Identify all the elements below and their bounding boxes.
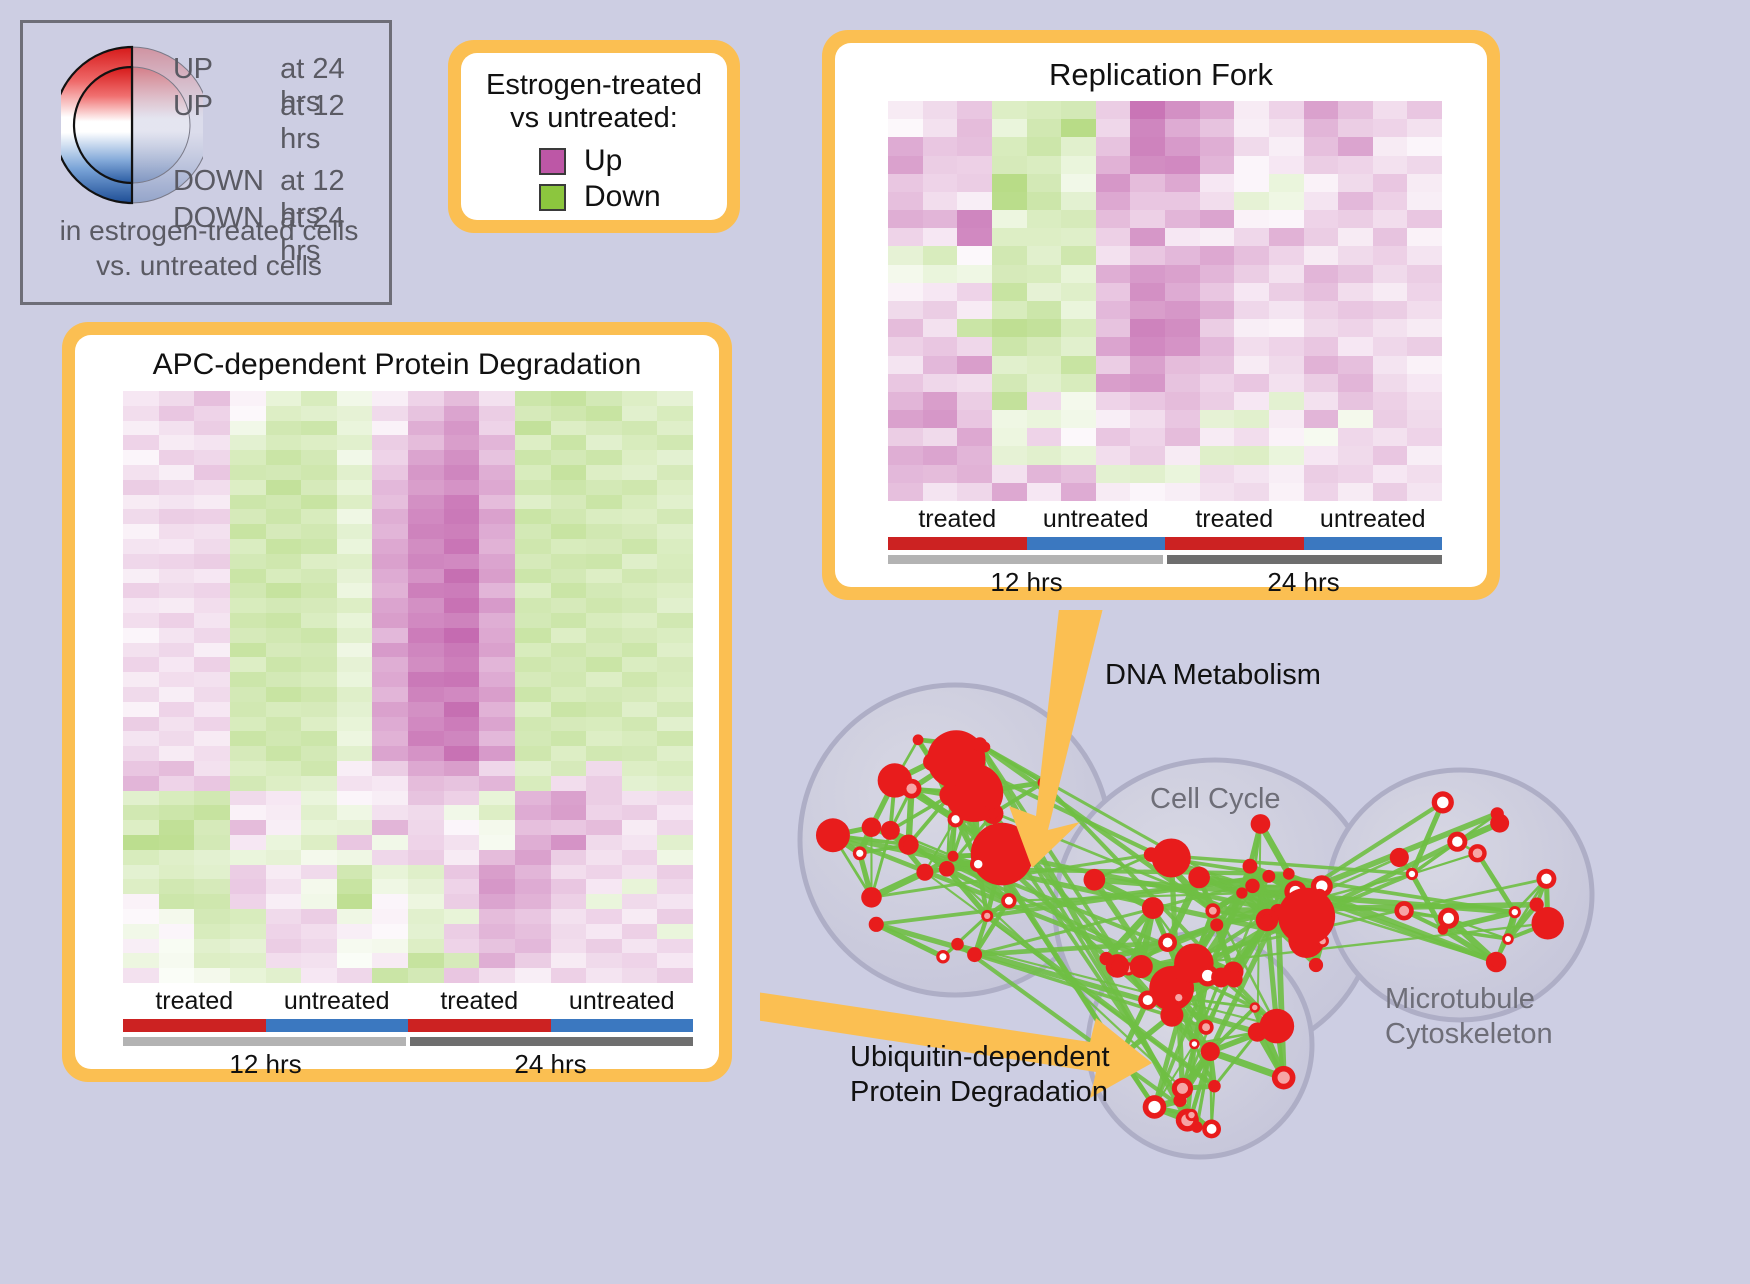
heatmap-cell [266, 820, 302, 835]
heatmap-cell [301, 406, 337, 421]
heatmap-cell [1027, 283, 1062, 301]
heatmap-cell [230, 939, 266, 954]
figure-root: UP at 24 hrs UP at 12 hrs DOWN at 12 hrs… [0, 0, 1750, 1279]
network-node[interactable] [1309, 958, 1323, 972]
heatmap-cell [1061, 392, 1096, 410]
heatmap-cell [1269, 174, 1304, 192]
heatmap-cell [479, 598, 515, 613]
heatmap-cell [1096, 283, 1131, 301]
heatmap-cell [123, 554, 159, 569]
heatmap-cell [1027, 465, 1062, 483]
network-node[interactable] [1536, 869, 1556, 889]
network-node[interactable] [1191, 1121, 1203, 1133]
heatmap-cell [957, 137, 992, 155]
heatmap-cell [159, 391, 195, 406]
network-node[interactable] [916, 864, 933, 881]
heatmap-cell [1130, 265, 1165, 283]
heatmap-cell [657, 953, 693, 968]
network-node[interactable] [1152, 838, 1191, 877]
network-node[interactable] [1530, 898, 1544, 912]
heatmap-cell [515, 731, 551, 746]
heatmap-cell [1234, 228, 1269, 246]
heatmap-cell [515, 598, 551, 613]
heatmap-cell [479, 968, 515, 983]
network-node[interactable] [1250, 1002, 1260, 1012]
network-node[interactable] [981, 910, 993, 922]
heatmap-cell [515, 776, 551, 791]
heatmap-cell [657, 509, 693, 524]
network-node[interactable] [1172, 991, 1186, 1005]
heatmap-cell [230, 746, 266, 761]
network-node[interactable] [1251, 814, 1271, 834]
network-node[interactable] [1201, 1042, 1220, 1061]
heatmap-cell [957, 392, 992, 410]
heatmap-cell [1269, 101, 1304, 119]
heatmap-cell [301, 731, 337, 746]
heatmap-cell [372, 909, 408, 924]
network-node[interactable] [1432, 791, 1454, 813]
heatmap-cell [551, 524, 587, 539]
heatmap-cell [337, 509, 373, 524]
heatmap-cell [301, 953, 337, 968]
network-node[interactable] [967, 947, 982, 962]
heatmap-cell [266, 569, 302, 584]
heatmap-cell [1234, 301, 1269, 319]
heatmap-cell [159, 421, 195, 436]
heatmap-cell [1338, 301, 1373, 319]
heatmap-cell [372, 598, 408, 613]
heatmap-cell [159, 805, 195, 820]
network-node[interactable] [948, 851, 959, 862]
apc-degradation-card: APC-dependent Protein Degradation treate… [62, 322, 732, 1082]
heatmap-cell [479, 391, 515, 406]
heatmap-cell [515, 672, 551, 687]
network-node[interactable] [861, 887, 882, 908]
heatmap-cell [1165, 228, 1200, 246]
heatmap-cell [1304, 428, 1339, 446]
heatmap-cell [266, 731, 302, 746]
network-node[interactable] [853, 846, 867, 860]
heatmap-cell [586, 465, 622, 480]
heatmap-cell [194, 820, 230, 835]
heatmap-cell [1130, 301, 1165, 319]
heatmap-cell [301, 628, 337, 643]
heatmap-cell [1200, 483, 1235, 501]
heatmap-cell [1373, 246, 1408, 264]
heatmap-cell [123, 953, 159, 968]
network-node[interactable] [939, 784, 961, 806]
heatmap-cell [515, 613, 551, 628]
heatmap-cell [657, 835, 693, 850]
heatmap-cell [1130, 483, 1165, 501]
legend-inner: Estrogen-treated vs untreated: Up Down [461, 53, 727, 220]
network-node[interactable] [1283, 868, 1295, 880]
network-node[interactable] [1158, 933, 1177, 952]
heatmap-cell [888, 374, 923, 392]
heatmap-cell [479, 746, 515, 761]
heatmap-cell [266, 435, 302, 450]
network-node[interactable] [983, 803, 1004, 824]
heatmap-cell [586, 820, 622, 835]
heatmap-cell [337, 406, 373, 421]
heatmap-cell [1096, 265, 1131, 283]
heatmap-cell [622, 495, 658, 510]
heatmap-cell [372, 554, 408, 569]
network-node[interactable] [1394, 901, 1413, 920]
network-node[interactable] [1260, 1009, 1295, 1044]
heatmap-cell [622, 850, 658, 865]
heatmap-cell [1130, 246, 1165, 264]
heatmap-cell [923, 301, 958, 319]
network-node[interactable] [1211, 967, 1231, 987]
heatmap-cell [337, 820, 373, 835]
heatmap-cell [1130, 192, 1165, 210]
heatmap-cell [194, 761, 230, 776]
heatmap-cell [551, 820, 587, 835]
heatmap-cell [957, 374, 992, 392]
heatmap-cell [301, 746, 337, 761]
heatmap-cell [123, 702, 159, 717]
heatmap-cell [1338, 228, 1373, 246]
network-node[interactable] [1438, 924, 1448, 934]
heatmap-cell [479, 465, 515, 480]
network-node[interactable] [1262, 870, 1275, 883]
heatmap-cell [657, 495, 693, 510]
heatmap-cell [622, 791, 658, 806]
network-node[interactable] [1210, 918, 1223, 931]
heatmap-cell [408, 406, 444, 421]
network-node[interactable] [1020, 846, 1036, 862]
heatmap-cell [337, 480, 373, 495]
heatmap-cell [444, 598, 480, 613]
heatmap-cell [1373, 337, 1408, 355]
heatmap-cell [266, 480, 302, 495]
heatmap-cell [622, 879, 658, 894]
heatmap-cell [1304, 265, 1339, 283]
heatmap-cell [957, 428, 992, 446]
heatmap-cell [159, 968, 195, 983]
network-node[interactable] [1038, 777, 1049, 788]
heatmap-cell [1165, 374, 1200, 392]
heatmap-cell [1200, 446, 1235, 464]
heatmap-cell [408, 598, 444, 613]
heatmap-cell [301, 687, 337, 702]
heatmap-cell [992, 446, 1027, 464]
heatmap-cell [408, 894, 444, 909]
heatmap-cell [337, 613, 373, 628]
heatmap-cell [1200, 137, 1235, 155]
heatmap-cell [444, 583, 480, 598]
heatmap-cell [301, 569, 337, 584]
heatmap-cell [586, 717, 622, 732]
heatmap-cell [1165, 156, 1200, 174]
network-node[interactable] [1084, 869, 1106, 891]
heatmap-cell [372, 894, 408, 909]
network-node[interactable] [898, 834, 918, 854]
heatmap-cell [159, 894, 195, 909]
heatmap-cell [1269, 137, 1304, 155]
heatmap-cell [337, 850, 373, 865]
heatmap-cell [992, 374, 1027, 392]
network-node[interactable] [1509, 906, 1521, 918]
heatmap-cell [1407, 319, 1442, 337]
heatmap-cell [408, 672, 444, 687]
network-node[interactable] [1114, 1050, 1127, 1063]
network-node[interactable] [1245, 879, 1259, 893]
heatmap-cell [923, 246, 958, 264]
heatmap-cell [1304, 319, 1339, 337]
heatmap-cell [337, 702, 373, 717]
heatmap-cell [372, 450, 408, 465]
heatmap-cell [444, 746, 480, 761]
network-node[interactable] [1001, 893, 1016, 908]
heatmap-cell [1304, 119, 1339, 137]
heatmap-cell [408, 657, 444, 672]
network-node[interactable] [1188, 867, 1210, 889]
network-node[interactable] [862, 817, 882, 837]
heatmap-cell [1027, 101, 1062, 119]
heatmap-cell [1096, 101, 1131, 119]
network-node[interactable] [1198, 1020, 1213, 1035]
heatmap-cell [123, 657, 159, 672]
heatmap-cell [622, 613, 658, 628]
network-node[interactable] [1138, 991, 1157, 1010]
heatmap-cell [992, 319, 1027, 337]
heatmap-cell [408, 791, 444, 806]
heatmap-cell [479, 643, 515, 658]
heatmap-cell [408, 687, 444, 702]
heatmap-cell [1096, 337, 1131, 355]
heatmap-cell [479, 953, 515, 968]
heatmap-cell [1027, 356, 1062, 374]
heatmap-cell [230, 953, 266, 968]
heatmap-cell [657, 406, 693, 421]
network-node[interactable] [869, 917, 884, 932]
heatmap-cell [888, 410, 923, 428]
heatmap-cell [266, 850, 302, 865]
heatmap-cell [479, 702, 515, 717]
treatment-bar-segment [408, 1019, 551, 1032]
network-node[interactable] [1278, 888, 1335, 945]
heatmap-cell [1407, 356, 1442, 374]
group-label: treated [888, 505, 1027, 534]
heatmap-cell [586, 746, 622, 761]
heatmap-cell [1269, 446, 1304, 464]
network-node[interactable] [1130, 955, 1153, 978]
network-node[interactable] [1208, 1080, 1221, 1093]
heatmap-cell [1234, 446, 1269, 464]
heatmap-cell [515, 495, 551, 510]
legend-items: Up Down [461, 143, 727, 215]
heatmap-cell [408, 805, 444, 820]
heatmap-cell [657, 776, 693, 791]
heatmap-cell [957, 210, 992, 228]
heatmap-cell [266, 968, 302, 983]
heatmap-cell [1407, 428, 1442, 446]
heatmap-cell [1269, 337, 1304, 355]
heatmap-cell [301, 835, 337, 850]
heatmap-cell [1200, 246, 1235, 264]
network-node[interactable] [881, 821, 900, 840]
heatmap-cell [551, 598, 587, 613]
treatment-bar-segment [266, 1019, 409, 1032]
network-node[interactable] [980, 742, 991, 753]
heatmap-cell [444, 687, 480, 702]
heatmap-cell [479, 657, 515, 672]
heatmap-cell [657, 628, 693, 643]
heatmap-cell [1269, 246, 1304, 264]
heatmap-cell [372, 628, 408, 643]
heatmap-cell [444, 835, 480, 850]
heatmap-cell [1200, 410, 1235, 428]
network-node[interactable] [1531, 907, 1563, 939]
heatmap-cell [515, 865, 551, 880]
network-node[interactable] [1202, 1120, 1221, 1139]
heatmap-cell [266, 672, 302, 687]
heatmap-cell [957, 156, 992, 174]
heatmap-cell [123, 894, 159, 909]
network-node[interactable] [936, 950, 949, 963]
network-node[interactable] [1143, 1095, 1167, 1119]
heatmap-cell [123, 598, 159, 613]
heatmap-cell [1200, 101, 1235, 119]
heatmap-cell [1130, 392, 1165, 410]
heatmap-cell [123, 968, 159, 983]
network-node[interactable] [902, 779, 922, 799]
heatmap-cell [1130, 174, 1165, 192]
legend-label-up: Up [584, 144, 622, 178]
heatmap-cell [337, 643, 373, 658]
heatmap-cell [266, 687, 302, 702]
heatmap-cell [622, 717, 658, 732]
heatmap-cell [372, 583, 408, 598]
heatmap-cell [586, 805, 622, 820]
heatmap-cell [657, 598, 693, 613]
heatmap-cell [1304, 301, 1339, 319]
heatmap-cell [1407, 374, 1442, 392]
heatmap-cell [230, 583, 266, 598]
network-node[interactable] [1486, 952, 1506, 972]
heatmap-cell [230, 835, 266, 850]
network-node[interactable] [913, 734, 924, 745]
network-node[interactable] [816, 818, 850, 852]
heatmap-cell [337, 465, 373, 480]
heatmap-cell [408, 820, 444, 835]
network-node[interactable] [1205, 903, 1220, 918]
heatmap-cell [1373, 174, 1408, 192]
heatmap-cell [444, 850, 480, 865]
network-node[interactable] [1106, 954, 1130, 978]
heatmap-cell [230, 613, 266, 628]
network-node[interactable] [939, 861, 955, 877]
heatmap-cell [622, 672, 658, 687]
network-node[interactable] [948, 811, 964, 827]
heatmap-cell [1338, 483, 1373, 501]
heatmap-cell [657, 924, 693, 939]
heatmap-cell [1165, 319, 1200, 337]
heatmap-cell [337, 554, 373, 569]
heatmap-cell [266, 909, 302, 924]
cluster-label-microtubule-line2: Cytoskeleton [1385, 1017, 1553, 1052]
heatmap-cell [622, 598, 658, 613]
group-label: treated [408, 987, 551, 1016]
heatmap-cell [1061, 483, 1096, 501]
network-node[interactable] [1172, 963, 1188, 979]
heatmap-cell [230, 539, 266, 554]
network-node[interactable] [951, 938, 964, 951]
heatmap-cell [888, 465, 923, 483]
network-node[interactable] [1236, 887, 1247, 898]
network-node[interactable] [1406, 868, 1418, 880]
heatmap-cell [301, 924, 337, 939]
heatmap-cell [479, 909, 515, 924]
heatmap-cell [1269, 483, 1304, 501]
heatmap-cell [337, 524, 373, 539]
heatmap-cell [1200, 337, 1235, 355]
timepoint-bar-segment [410, 1037, 693, 1046]
heatmap-cell [123, 509, 159, 524]
network-node[interactable] [970, 856, 986, 872]
heatmap-cell [301, 509, 337, 524]
group-label: untreated [551, 987, 694, 1016]
heatmap-cell [551, 465, 587, 480]
network-node[interactable] [1142, 897, 1164, 919]
heatmap-cell [444, 909, 480, 924]
network-node[interactable] [1189, 1039, 1200, 1050]
heatmap-cell [551, 628, 587, 643]
heatmap-cell [408, 761, 444, 776]
heatmap-cell [230, 569, 266, 584]
heatmap-cell [479, 406, 515, 421]
network-node[interactable] [1272, 1066, 1296, 1090]
heatmap-cell [888, 283, 923, 301]
network-node[interactable] [1172, 1078, 1193, 1099]
heatmap-cell [1234, 283, 1269, 301]
heatmap-cell [923, 465, 958, 483]
heatmap-cell [586, 539, 622, 554]
network-node[interactable] [1243, 859, 1258, 874]
network-node[interactable] [1502, 933, 1514, 945]
network-node[interactable] [1468, 844, 1486, 862]
heatmap-cell [888, 192, 923, 210]
heatmap-cell [1061, 356, 1096, 374]
heatmap-cell [159, 746, 195, 761]
heatmap-cell [622, 465, 658, 480]
network-node[interactable] [1447, 832, 1467, 852]
heatmap-cell [159, 495, 195, 510]
network-node[interactable] [1160, 1004, 1183, 1027]
heatmap-cell [1373, 465, 1408, 483]
heatmap-cell [888, 428, 923, 446]
network-node[interactable] [1390, 848, 1409, 867]
heatmap-cell [159, 939, 195, 954]
heatmap-cell [372, 805, 408, 820]
heatmap-cell [1061, 428, 1096, 446]
network-node[interactable] [1185, 1109, 1197, 1121]
heatmap-cell [622, 761, 658, 776]
heatmap-cell [1130, 446, 1165, 464]
heatmap-cell [515, 450, 551, 465]
heatmap-cell [301, 613, 337, 628]
heatmap-cell [657, 702, 693, 717]
network-node[interactable] [1490, 814, 1509, 833]
heatmap-cell [266, 702, 302, 717]
heatmap-cell [1373, 101, 1408, 119]
heatmap-cell [622, 569, 658, 584]
heatmap-cell [230, 657, 266, 672]
heatmap-cell [957, 301, 992, 319]
network-node[interactable] [1256, 909, 1279, 932]
